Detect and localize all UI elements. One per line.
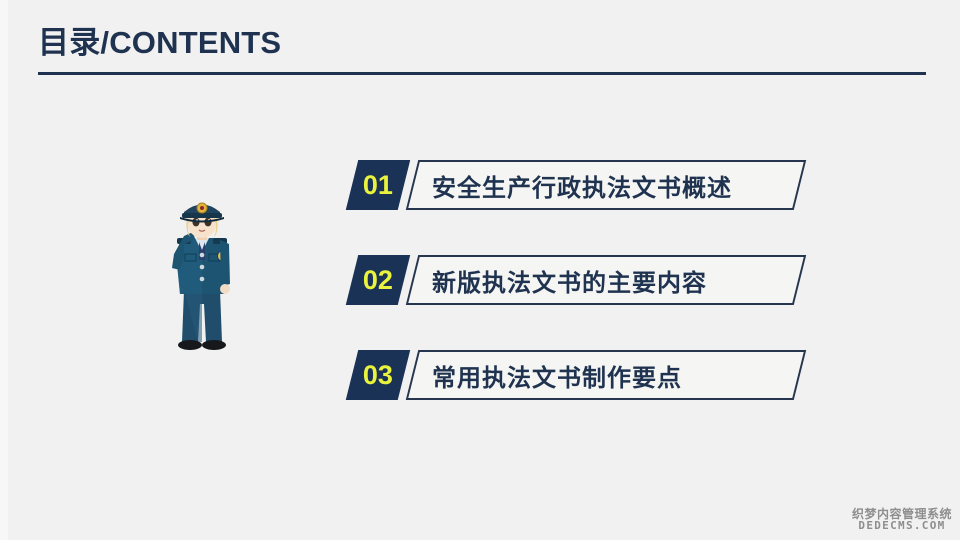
police-officer-icon [150,192,254,368]
contents-list: 01 安全生产行政执法文书概述 02 新版执法文书的主要内容 03 常用执法文书… [352,160,812,400]
contents-number-01: 01 [363,172,393,199]
contents-number-02: 02 [363,267,393,294]
contents-item-label-01: 安全生产行政执法文书概述 [432,160,732,210]
contents-item-02[interactable]: 02 新版执法文书的主要内容 [352,255,812,305]
contents-item-01[interactable]: 01 安全生产行政执法文书概述 [352,160,812,210]
title-divider [38,72,926,75]
contents-number-badge-02: 02 [346,255,410,305]
contents-number-03: 03 [363,362,393,389]
watermark-line-en: DEDECMS.COM [852,520,952,532]
slide-canvas: 目录/CONTENTS [0,0,960,540]
page-title: 目录/CONTENTS [38,24,928,62]
watermark: 织梦内容管理系统 DEDECMS.COM [852,508,952,532]
slide-header: 目录/CONTENTS [38,24,928,75]
contents-item-03[interactable]: 03 常用执法文书制作要点 [352,350,812,400]
contents-number-badge-01: 01 [346,160,410,210]
contents-number-badge-03: 03 [346,350,410,400]
police-officer-illustration [150,192,254,368]
contents-item-label-03: 常用执法文书制作要点 [432,350,682,400]
contents-item-label-02: 新版执法文书的主要内容 [432,255,707,305]
slide-left-edge [0,0,8,540]
